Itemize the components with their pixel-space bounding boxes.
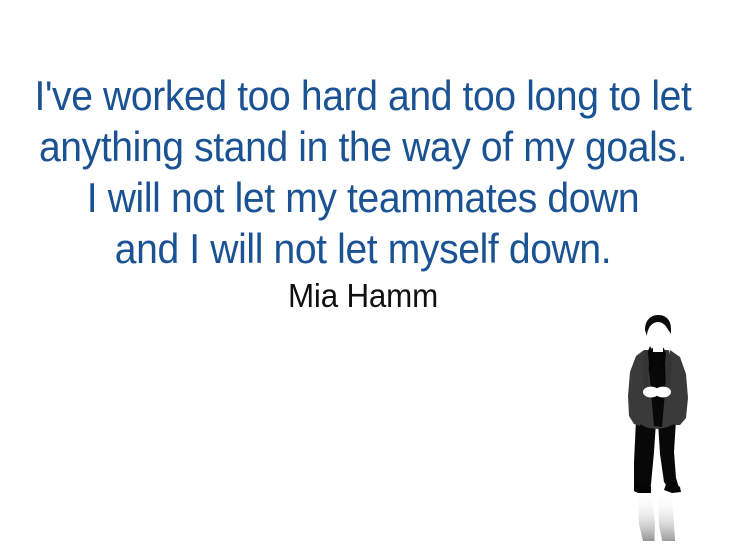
figure-reflection bbox=[638, 493, 676, 552]
quote-slide: I've worked too hard and too long to let… bbox=[0, 0, 750, 560]
quote-line-3: I will not let my teammates down bbox=[25, 172, 700, 223]
figure-head bbox=[645, 315, 671, 352]
quote-text-block: I've worked too hard and too long to let… bbox=[0, 70, 726, 274]
quote-line-2: anything stand in the way of my goals. bbox=[25, 121, 700, 172]
quote-line-4: and I will not let myself down. bbox=[25, 223, 700, 274]
businessman-silhouette-icon bbox=[614, 312, 734, 552]
quote-attribution: Mia Hamm bbox=[18, 277, 708, 315]
businessman-silhouette-figure bbox=[614, 312, 734, 552]
figure-legs bbox=[634, 420, 681, 493]
quote-line-1: I've worked too hard and too long to let bbox=[25, 70, 700, 121]
